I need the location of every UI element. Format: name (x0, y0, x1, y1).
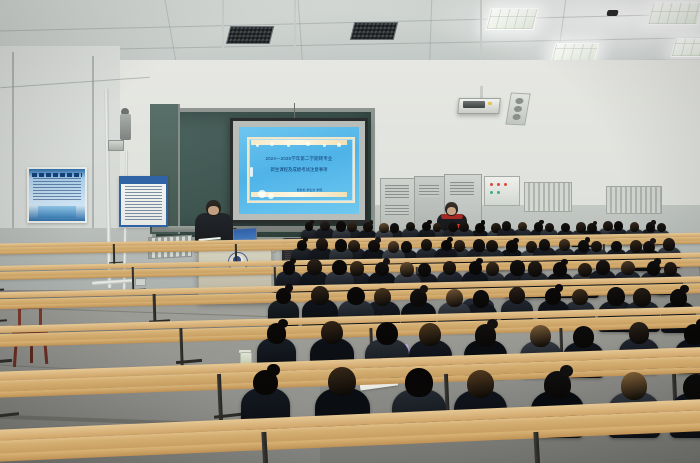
student-head (607, 287, 625, 306)
student-head (376, 322, 398, 345)
student-head (528, 261, 542, 276)
student-head (591, 241, 602, 252)
hair-bun (560, 365, 573, 378)
student-head (621, 372, 647, 400)
hair-bun (481, 220, 486, 225)
student-head (400, 262, 414, 277)
student-head (421, 239, 432, 251)
student-head (307, 259, 322, 275)
student-head (459, 222, 469, 232)
student-head (663, 238, 675, 250)
hair-bun (447, 237, 452, 242)
student-head (572, 289, 588, 306)
student-head (486, 240, 498, 253)
hair-bun (267, 364, 279, 376)
student-head (502, 221, 511, 231)
student-head (406, 222, 415, 231)
student-head (311, 286, 329, 305)
hair-bun (420, 285, 429, 293)
student-head (539, 239, 550, 251)
student-head (374, 288, 391, 306)
hair-bun (278, 319, 288, 328)
student-head (629, 322, 649, 343)
student-head (611, 241, 622, 252)
student-head (630, 222, 639, 232)
student-head (596, 260, 610, 275)
student-head (347, 287, 365, 306)
hair-bun (383, 258, 390, 265)
hair-bun (513, 238, 519, 244)
student-head (321, 321, 343, 345)
student-head (443, 261, 456, 275)
hair-bun (593, 221, 598, 226)
hair-bun (290, 258, 296, 264)
hair-bun (487, 319, 498, 329)
student-head (621, 261, 635, 275)
hair-bun (285, 284, 293, 291)
student-head (379, 223, 388, 233)
lecture-hall-photo: 2024—2025学年第二学期转专业 新生课程及成绩考试注意事项 教务处 学生处… (0, 0, 700, 463)
hair-bun (555, 284, 563, 292)
student-head (561, 223, 570, 232)
student-head (336, 221, 346, 231)
student-head (335, 239, 347, 252)
hair-bun (310, 220, 314, 224)
hair-bun (427, 220, 431, 224)
student-head (446, 289, 463, 307)
tiered-bench-desk (0, 414, 700, 454)
student-head (316, 238, 328, 251)
student-head (332, 260, 346, 275)
student-head (530, 325, 551, 347)
student-head (388, 241, 399, 253)
student-head (545, 223, 554, 232)
student-head (664, 262, 677, 276)
student-head (657, 223, 666, 232)
student-head (328, 367, 356, 396)
hair-bun (369, 220, 374, 224)
hair-bun (375, 237, 381, 243)
hair-bun (476, 258, 483, 264)
hair-bun (680, 285, 689, 293)
student-head (473, 290, 489, 307)
student-head (419, 323, 441, 346)
student-head (405, 368, 432, 397)
hair-bun (303, 237, 308, 242)
student-head (683, 374, 700, 401)
student-head (509, 287, 525, 304)
hair-bun (561, 259, 568, 266)
student-head (573, 326, 594, 348)
student-head (467, 370, 494, 398)
hair-bun (650, 238, 656, 244)
student-head (633, 288, 651, 307)
student-head (559, 239, 570, 251)
